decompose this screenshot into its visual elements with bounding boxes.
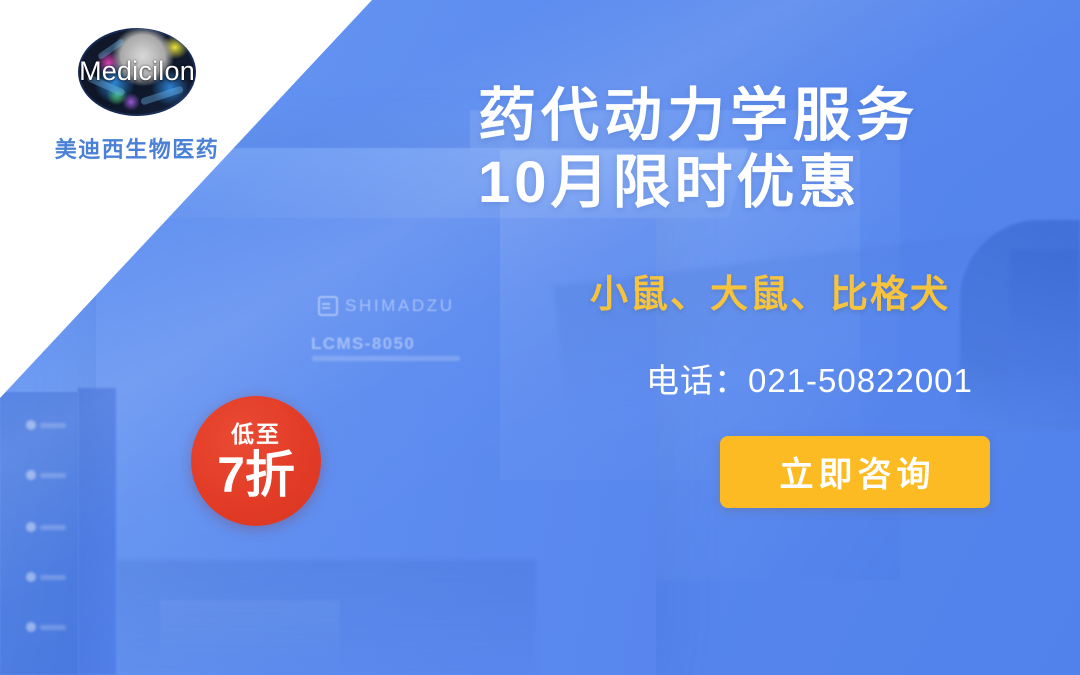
- medicilon-logo-icon: Medicilon: [78, 28, 196, 116]
- indicator-label: [40, 575, 66, 580]
- promo-content: 药代动力学服务 10月限时优惠 小鼠、大鼠、比格犬 电话：021-5082200…: [478, 82, 1038, 508]
- headline: 药代动力学服务 10月限时优惠: [478, 82, 1038, 217]
- species-subheadline: 小鼠、大鼠、比格犬: [590, 263, 1038, 318]
- indicator-lamp-icon: [26, 572, 36, 582]
- company-name-cn: 美迪西生物医药: [42, 132, 232, 164]
- shimadzu-brand-mark: SHIMADZU: [318, 296, 455, 316]
- contact-phone: 电话：021-50822001: [646, 354, 1038, 402]
- indicator-label: [40, 525, 66, 530]
- indicator-lamp-icon: [26, 522, 36, 532]
- indicator-lamp-icon: [26, 470, 36, 480]
- indicator-label: [40, 473, 66, 478]
- discount-badge-label: 低至: [231, 423, 281, 446]
- discount-badge: 低至 7折: [191, 396, 321, 526]
- headline-line-2: 10月限时优惠: [478, 149, 1038, 216]
- instrument-left-column: [0, 392, 78, 675]
- shimadzu-brand-text: SHIMADZU: [345, 296, 455, 316]
- discount-badge-value: 7折: [217, 450, 295, 500]
- instrument-model-subtext: [312, 356, 460, 361]
- instrument-vent: [160, 600, 340, 675]
- promo-banner: SHIMADZU LCMS-8050 Medicilon 美迪西生物医药 低至 …: [0, 0, 1080, 675]
- headline-line-1: 药代动力学服务: [478, 82, 1038, 149]
- consult-now-button[interactable]: 立即咨询: [720, 436, 990, 508]
- indicator-label: [40, 625, 66, 630]
- brand-logo-block: Medicilon 美迪西生物医药: [42, 28, 232, 164]
- indicator-lamp-icon: [26, 420, 36, 430]
- indicator-label: [40, 423, 66, 428]
- medicilon-wordmark: Medicilon: [78, 58, 196, 85]
- instrument-left-column-inner: [78, 388, 116, 675]
- instrument-model-text: LCMS-8050: [311, 334, 415, 354]
- shimadzu-logo-icon: [318, 296, 338, 316]
- indicator-lamp-icon: [26, 622, 36, 632]
